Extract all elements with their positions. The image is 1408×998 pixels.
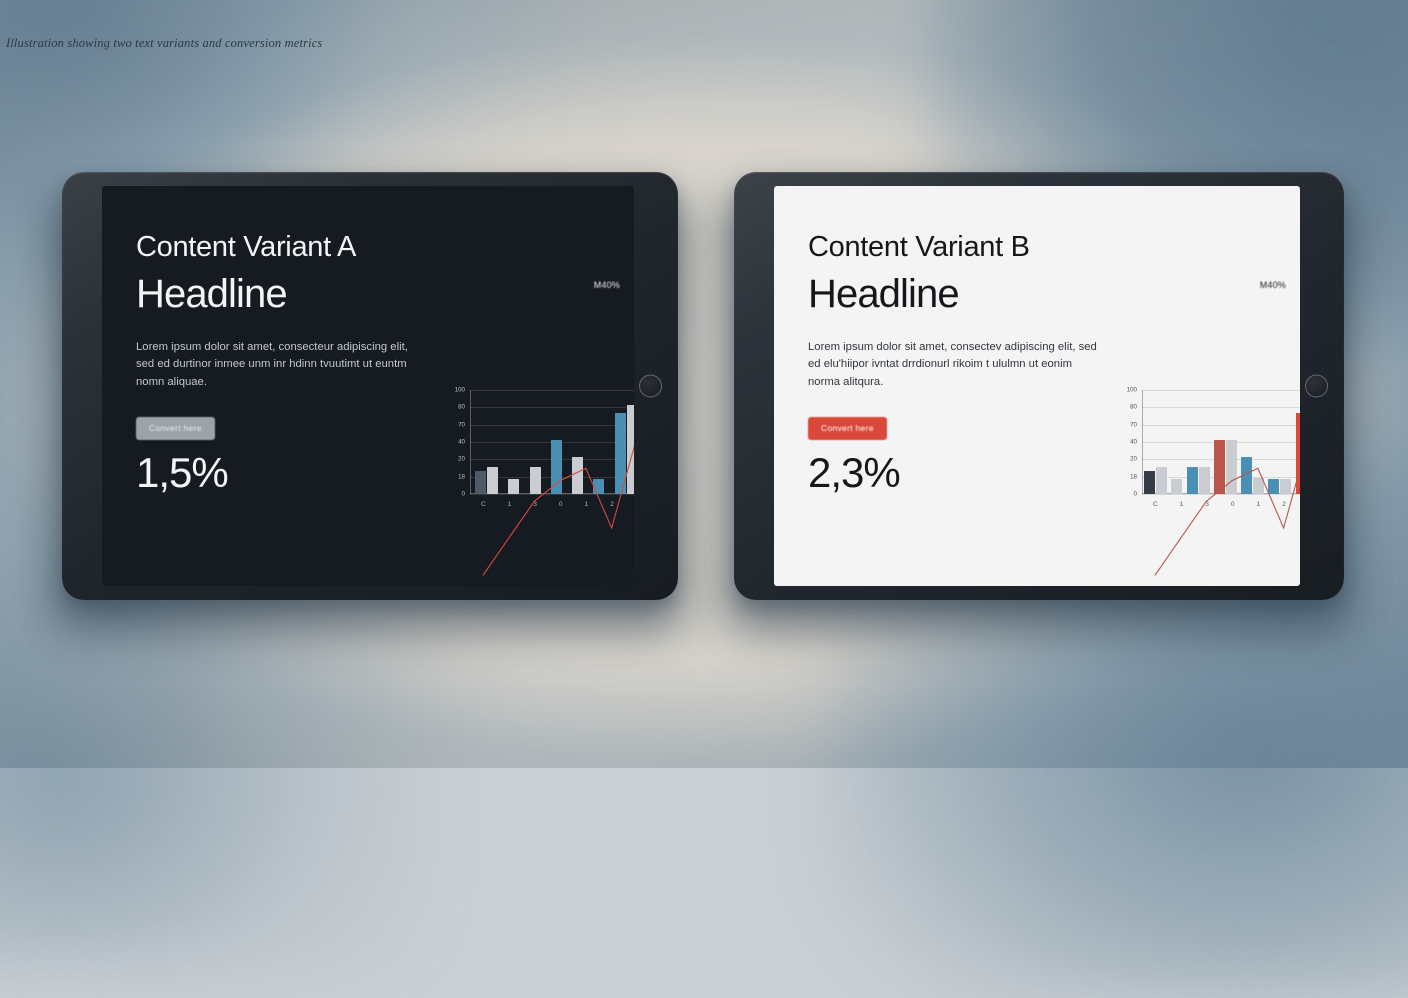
y-axis-tick-label: 70	[1130, 421, 1137, 428]
bar-group	[1144, 390, 1167, 494]
chart-bar	[1241, 457, 1252, 494]
chart-bar	[1156, 467, 1167, 494]
y-axis-tick-label: 20	[458, 456, 465, 463]
y-axis-tick-label: 40	[458, 439, 465, 446]
chart-bar	[627, 405, 634, 494]
screen-variant-a: Content Variant A Headline Lorem ipsum d…	[102, 186, 634, 586]
cta-button-a[interactable]: Convert here	[136, 417, 215, 440]
y-axis-tick-label: 70	[458, 421, 465, 428]
bar-group	[508, 390, 519, 494]
chart-bar	[1171, 479, 1182, 494]
y-axis-tick-label: 0	[1134, 491, 1137, 498]
chart-bar	[551, 440, 562, 494]
y-axis-tick-label: 80	[1130, 404, 1137, 411]
chart-a: 10080704020180 C13012n0	[442, 390, 634, 512]
screen-variant-b: Content Variant B Headline Lorem ipsum d…	[774, 186, 1300, 586]
bar-group	[1171, 390, 1182, 494]
bar-group	[1268, 390, 1291, 494]
x-axis-tick-label: 0	[1231, 501, 1235, 508]
eyebrow-label-a: Content Variant A	[136, 232, 436, 264]
y-axis-tick-label: 100	[1127, 387, 1137, 394]
cta-button-b[interactable]: Convert here	[808, 417, 887, 440]
chart-bar	[1296, 413, 1300, 494]
y-axis-tick-label: 20	[1130, 456, 1137, 463]
x-axis-tick-label: C	[1153, 501, 1158, 508]
x-axis-tick-label: C	[481, 501, 486, 508]
text-column-b: Content Variant B Headline Lorem ipsum d…	[808, 232, 1108, 586]
bar-group	[1187, 390, 1210, 494]
chart-x-axis-labels-a: C13012n0	[470, 496, 634, 512]
x-axis-tick-label: 1	[508, 501, 512, 508]
figure-caption: Illustration showing two text variants a…	[6, 36, 322, 51]
x-axis-tick-label: 1	[585, 501, 589, 508]
gridline	[470, 494, 634, 495]
chart-b: 10080704020180 C13012n0	[1114, 390, 1300, 512]
chart-annotation-a: M40%	[594, 280, 620, 290]
y-axis-tick-label: 80	[458, 404, 465, 411]
bar-group	[1214, 390, 1237, 494]
chart-bar	[1199, 467, 1210, 494]
conversion-stat-a: 1,5%	[136, 452, 436, 494]
chart-bar	[572, 457, 583, 494]
bar-group	[593, 390, 604, 494]
chart-bar	[1226, 440, 1237, 494]
body-text-a: Lorem ipsum dolor sit amet, consecteur a…	[136, 339, 428, 392]
chart-bar	[487, 467, 498, 494]
chart-annotation-b: M40%	[1260, 280, 1286, 290]
eyebrow-label-b: Content Variant B	[808, 232, 1108, 264]
tablet-variant-b: Content Variant B Headline Lorem ipsum d…	[734, 172, 1344, 600]
chart-column-a: M40% 10080704020180 C13012n0	[436, 232, 634, 586]
y-axis-tick-label: 100	[455, 387, 465, 394]
conversion-stat-b: 2,3%	[808, 452, 1108, 494]
bar-group	[551, 390, 562, 494]
y-axis-tick-label: 18	[458, 473, 465, 480]
x-axis-tick-label: 3	[1205, 501, 1209, 508]
chart-bar	[1268, 479, 1279, 494]
chart-bar	[1253, 478, 1264, 494]
y-axis-tick-label: 40	[1130, 439, 1137, 446]
chart-bar	[475, 471, 486, 494]
x-axis-tick-label: 2	[1282, 501, 1286, 508]
bar-group	[572, 390, 583, 494]
x-axis-tick-label: 2	[610, 501, 614, 508]
chart-x-axis-labels-b: C13012n0	[1142, 496, 1300, 512]
chart-bar	[1214, 440, 1225, 494]
chart-bar	[530, 467, 541, 494]
x-axis-tick-label: 0	[559, 501, 563, 508]
chart-bars-b	[1142, 390, 1300, 494]
bar-group	[530, 390, 541, 494]
chart-bar	[1280, 479, 1291, 494]
y-axis-tick-label: 18	[1130, 473, 1137, 480]
bar-group	[475, 390, 498, 494]
chart-plot-area-b: 10080704020180	[1142, 390, 1300, 494]
x-axis-tick-label: 1	[1257, 501, 1261, 508]
x-axis-tick-label: 3	[533, 501, 537, 508]
home-button-icon[interactable]	[639, 375, 662, 398]
body-text-b: Lorem ipsum dolor sit amet, consectev ad…	[808, 339, 1100, 392]
chart-bar	[593, 479, 604, 494]
chart-bar	[1144, 471, 1155, 494]
bar-group	[1296, 390, 1300, 494]
chart-bars-a	[470, 390, 634, 494]
headline-a: Headline	[136, 272, 436, 317]
chart-bar	[508, 479, 519, 494]
y-axis-tick-label: 0	[462, 491, 465, 498]
headline-b: Headline	[808, 272, 1108, 317]
x-axis-tick-label: 1	[1180, 501, 1184, 508]
chart-bar	[615, 413, 626, 494]
gridline	[1142, 494, 1300, 495]
home-button-icon[interactable]	[1305, 375, 1328, 398]
chart-plot-area-a: 10080704020180	[470, 390, 634, 494]
tablet-variant-a: Content Variant A Headline Lorem ipsum d…	[62, 172, 678, 600]
chart-bar	[1187, 467, 1198, 494]
chart-column-b: M40% 10080704020180 C13012n0	[1108, 232, 1300, 586]
bar-group	[615, 390, 634, 494]
text-column-a: Content Variant A Headline Lorem ipsum d…	[136, 232, 436, 586]
bar-group	[1241, 390, 1264, 494]
